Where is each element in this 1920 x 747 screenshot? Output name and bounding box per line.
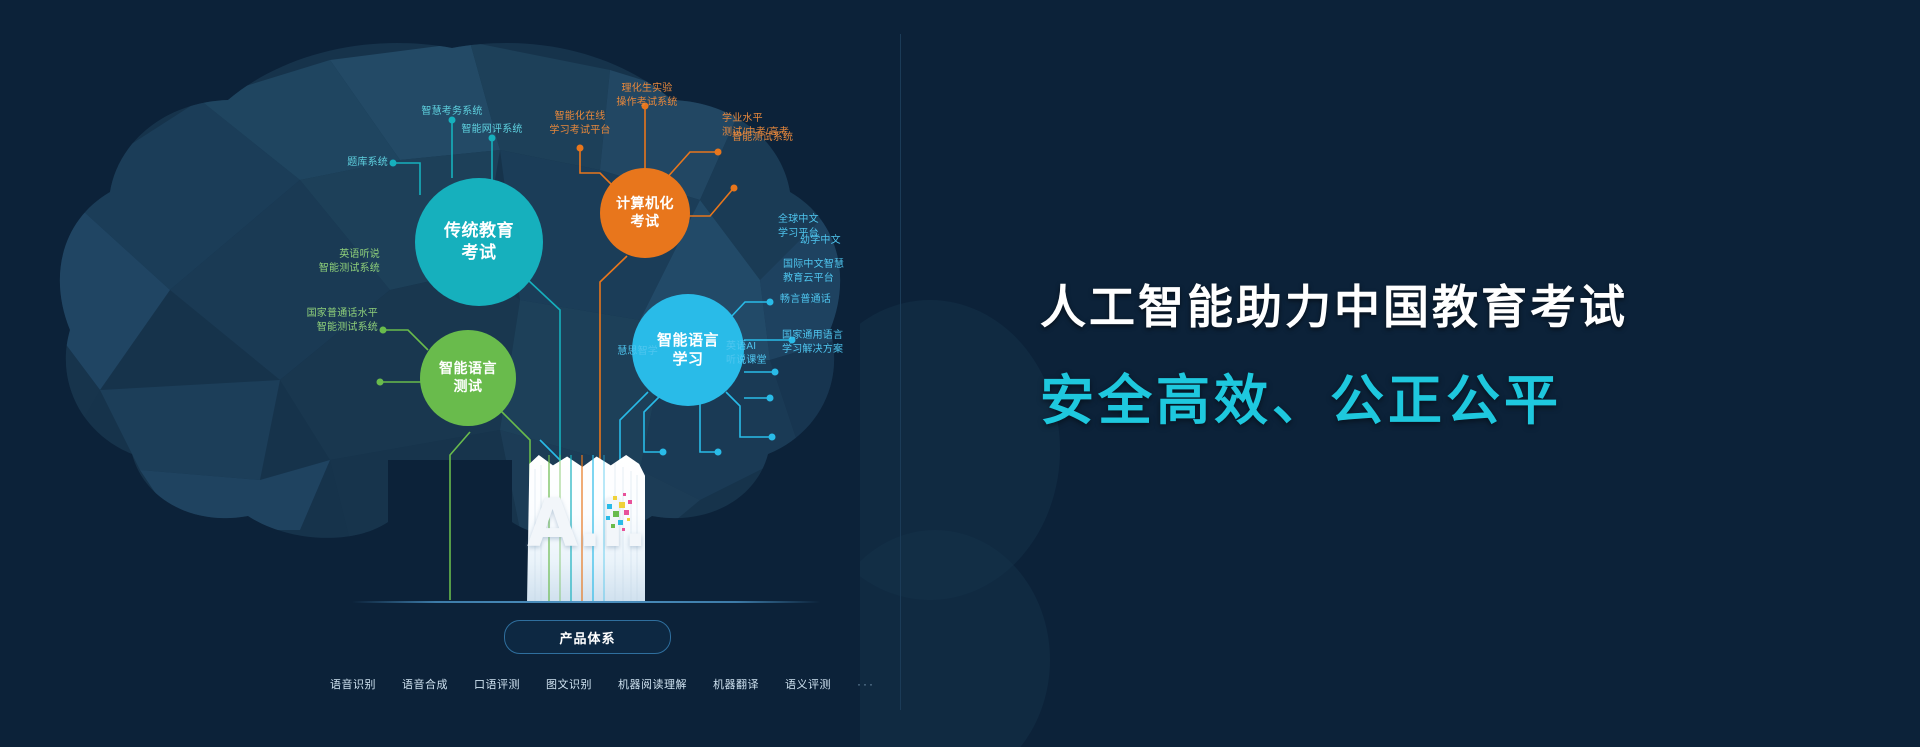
bubble-computerized-exam[interactable]: 计算机化 考试 [600,168,690,258]
tag-item[interactable]: 语义评测 [785,676,831,692]
node-label-early-chinese-learning: 幼学中文 [800,234,910,248]
bubble-label-line2: 考试 [631,213,660,231]
page-subtitle: 安全高效、公正公平 [1040,369,1740,434]
base-line [352,601,820,603]
tag-item[interactable]: 图文识别 [546,676,592,692]
tag-item-more[interactable]: ··· [857,677,875,691]
tree-trunk: A.I. [527,455,645,603]
node-label-huisi-zhixue: 慧思智学 [580,345,658,359]
tag-item[interactable]: 机器阅读理解 [618,676,687,692]
node-label-international-chinese-cloud: 国际中文智慧 教育云平台 [783,258,898,285]
capability-tag-row: 语音识别 语音合成 口语评测 图文识别 机器阅读理解 机器翻译 语义评测 ··· [330,676,850,692]
bubble-label-line1: 传统教育 [444,220,514,242]
brain-tree-illustration: 传统教育 考试 计算机化 考试 智能语言 学习 智能语言 测试 智慧考务系统 智… [0,0,900,747]
page-title: 人工智能助力中国教育考试 [1040,280,1740,335]
bubble-label-line1: 计算机化 [616,195,674,213]
tag-item[interactable]: 口语评测 [474,676,520,692]
headline-block: 人工智能助力中国教育考试 安全高效、公正公平 [1040,280,1740,434]
node-label-smart-exam-affairs: 智慧考务系统 [392,105,512,119]
tag-item[interactable]: 机器翻译 [713,676,759,692]
bubble-label-line1: 智能语言 [439,360,497,378]
node-label-smart-testing-system: 智能测试系统 [732,131,852,145]
bubble-intelligent-language-testing[interactable]: 智能语言 测试 [420,330,516,426]
sparkle-icon [599,490,639,535]
node-label-changyan-mandarin: 畅言普通话 [780,293,890,307]
node-label-science-lab-operation-exam: 理化生实验 操作考试系统 [592,82,702,109]
node-label-smart-online-learning-exam-platform: 智能化在线 学习考试平台 [520,110,640,137]
ai-education-banner: 传统教育 考试 计算机化 考试 智能语言 学习 智能语言 测试 智慧考务系统 智… [0,0,1920,747]
tag-item[interactable]: 语音合成 [402,676,448,692]
bubble-traditional-education-exam[interactable]: 传统教育 考试 [415,178,543,306]
node-label-question-bank: 题库系统 [283,156,388,170]
node-label-mandarin-proficiency-test: 国家普通话水平 智能测试系统 [263,307,378,334]
bubble-label-line1: 智能语言 [657,331,719,350]
vertical-divider [900,34,901,710]
node-label-english-ai-classroom: 英语AI 听说课堂 [726,340,806,367]
bubble-label-line2: 测试 [454,378,483,396]
tag-item[interactable]: 语音识别 [330,676,376,692]
product-system-button[interactable]: 产品体系 [504,620,671,654]
node-label-english-listening-speaking-test: 英语听说 智能测试系统 [275,248,380,275]
bubble-label-line2: 考试 [462,242,497,264]
bubble-label-line2: 学习 [672,350,703,369]
